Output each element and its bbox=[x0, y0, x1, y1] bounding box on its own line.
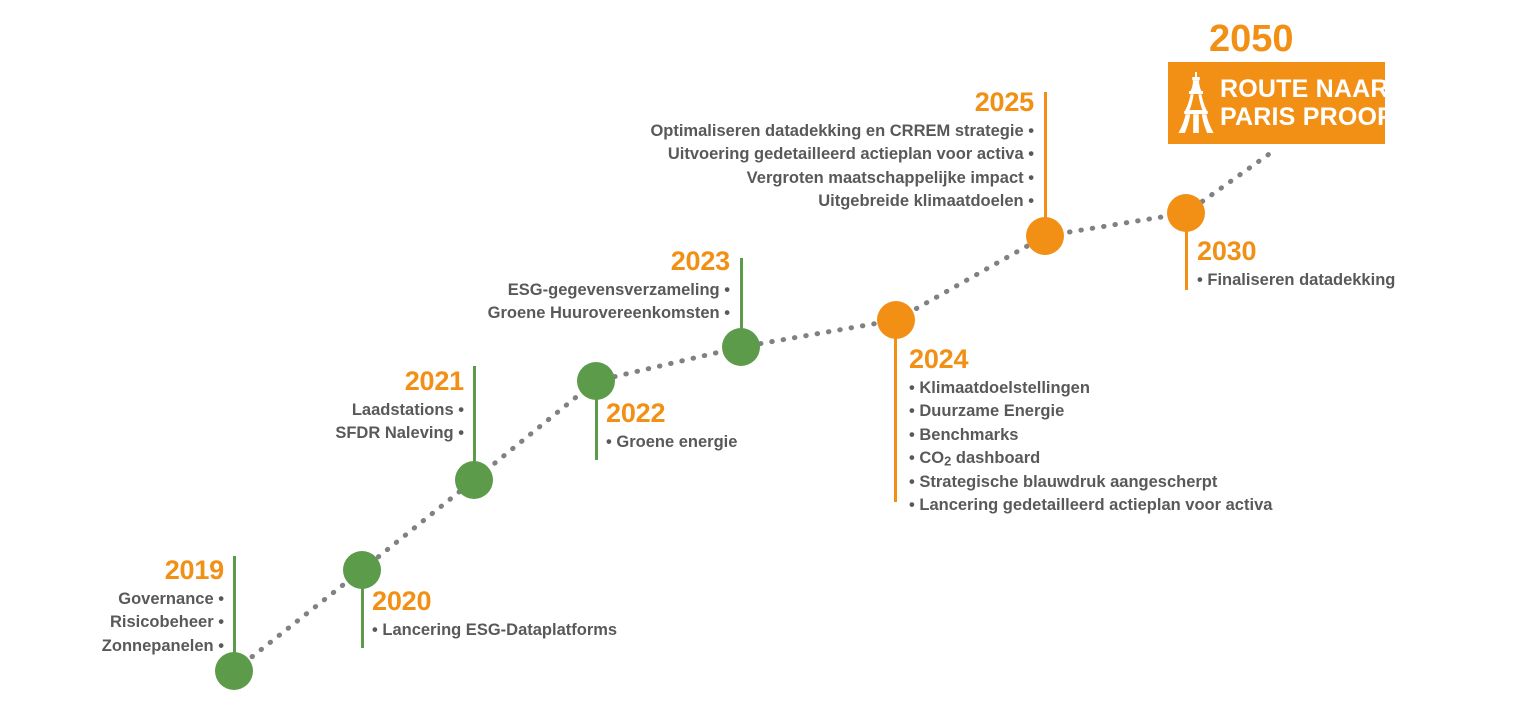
bullet-list-2019: Governance • Risicobeheer • Zonnepanelen… bbox=[0, 588, 224, 658]
list-item: Vergroten maatschappelijke impact • bbox=[600, 167, 1034, 190]
milestone-2030: 2030 • Finaliseren datadekking bbox=[1197, 238, 1517, 292]
bullet-list-2020: • Lancering ESG-Dataplatforms bbox=[372, 619, 792, 642]
badge-line-2: PARIS PROOF bbox=[1220, 103, 1393, 131]
stem-2025 bbox=[1044, 92, 1047, 237]
list-item: • Lancering ESG-Dataplatforms bbox=[372, 619, 792, 642]
year-label-2023: 2023 bbox=[330, 248, 730, 275]
year-label-2024: 2024 bbox=[909, 346, 1409, 373]
list-item: Uitvoering gedetailleerd actieplan voor … bbox=[600, 143, 1034, 166]
list-item: • Strategische blauwdruk aangescherpt bbox=[909, 471, 1409, 494]
milestone-2019: 2019 Governance • Risicobeheer • Zonnepa… bbox=[0, 557, 224, 658]
milestone-2021: 2021 Laadstations • SFDR Naleving • bbox=[240, 368, 464, 446]
milestone-2024: 2024 • Klimaatdoelstellingen • Duurzame … bbox=[909, 346, 1409, 518]
badge-text-block: ROUTE NAAR PARIS PROOF bbox=[1220, 75, 1393, 131]
milestone-2020: 2020 • Lancering ESG-Dataplatforms bbox=[372, 588, 792, 642]
year-label-2022: 2022 bbox=[606, 400, 906, 427]
node-2020[interactable] bbox=[343, 551, 381, 589]
list-item: ESG-gegevensverzameling • bbox=[330, 279, 730, 302]
milestone-2022: 2022 • Groene energie bbox=[606, 400, 906, 454]
list-item: Governance • bbox=[0, 588, 224, 611]
node-2025[interactable] bbox=[1026, 217, 1064, 255]
node-2022[interactable] bbox=[577, 362, 615, 400]
list-item: Optimaliseren datadekking en CRREM strat… bbox=[600, 120, 1034, 143]
year-label-2025: 2025 bbox=[600, 89, 1034, 116]
bullet-list-2022: • Groene energie bbox=[606, 431, 906, 454]
year-label-2021: 2021 bbox=[240, 368, 464, 395]
bullet-list-2024: • Klimaatdoelstellingen • Duurzame Energ… bbox=[909, 377, 1409, 518]
bullet-list-2021: Laadstations • SFDR Naleving • bbox=[240, 399, 464, 446]
badge-line-1: ROUTE NAAR bbox=[1220, 75, 1393, 103]
bullet-list-2030: • Finaliseren datadekking bbox=[1197, 269, 1517, 292]
list-item: • Duurzame Energie bbox=[909, 400, 1409, 423]
milestone-2023: 2023 ESG-gegevensverzameling • Groene Hu… bbox=[330, 248, 730, 326]
year-label-2019: 2019 bbox=[0, 557, 224, 584]
node-2030[interactable] bbox=[1167, 194, 1205, 232]
bullet-list-2025: Optimaliseren datadekking en CRREM strat… bbox=[600, 120, 1034, 214]
node-2023[interactable] bbox=[722, 328, 760, 366]
list-item: • Lancering gedetailleerd actieplan voor… bbox=[909, 494, 1409, 517]
list-item: SFDR Naleving • bbox=[240, 422, 464, 445]
timeline-infographic: 2019 Governance • Risicobeheer • Zonnepa… bbox=[0, 0, 1536, 718]
list-item: Laadstations • bbox=[240, 399, 464, 422]
year-label-2030: 2030 bbox=[1197, 238, 1517, 265]
list-item: • Benchmarks bbox=[909, 424, 1409, 447]
year-label-2050: 2050 bbox=[1209, 18, 1294, 61]
node-2021[interactable] bbox=[455, 461, 493, 499]
node-2024[interactable] bbox=[877, 301, 915, 339]
list-item: Uitgebreide klimaatdoelen • bbox=[600, 190, 1034, 213]
year-label-2020: 2020 bbox=[372, 588, 792, 615]
list-item: • CO2 dashboard bbox=[909, 447, 1409, 471]
list-item: Risicobeheer • bbox=[0, 611, 224, 634]
paris-proof-badge[interactable]: ROUTE NAAR PARIS PROOF bbox=[1168, 62, 1385, 144]
list-item: • Groene energie bbox=[606, 431, 906, 454]
eiffel-tower-icon bbox=[1176, 72, 1216, 134]
list-item: • Klimaatdoelstellingen bbox=[909, 377, 1409, 400]
list-item: Groene Huurovereenkomsten • bbox=[330, 302, 730, 325]
bullet-list-2023: ESG-gegevensverzameling • Groene Huurove… bbox=[330, 279, 730, 326]
list-item: • Finaliseren datadekking bbox=[1197, 269, 1517, 292]
list-item: Zonnepanelen • bbox=[0, 635, 224, 658]
milestone-2025: 2025 Optimaliseren datadekking en CRREM … bbox=[600, 89, 1034, 214]
